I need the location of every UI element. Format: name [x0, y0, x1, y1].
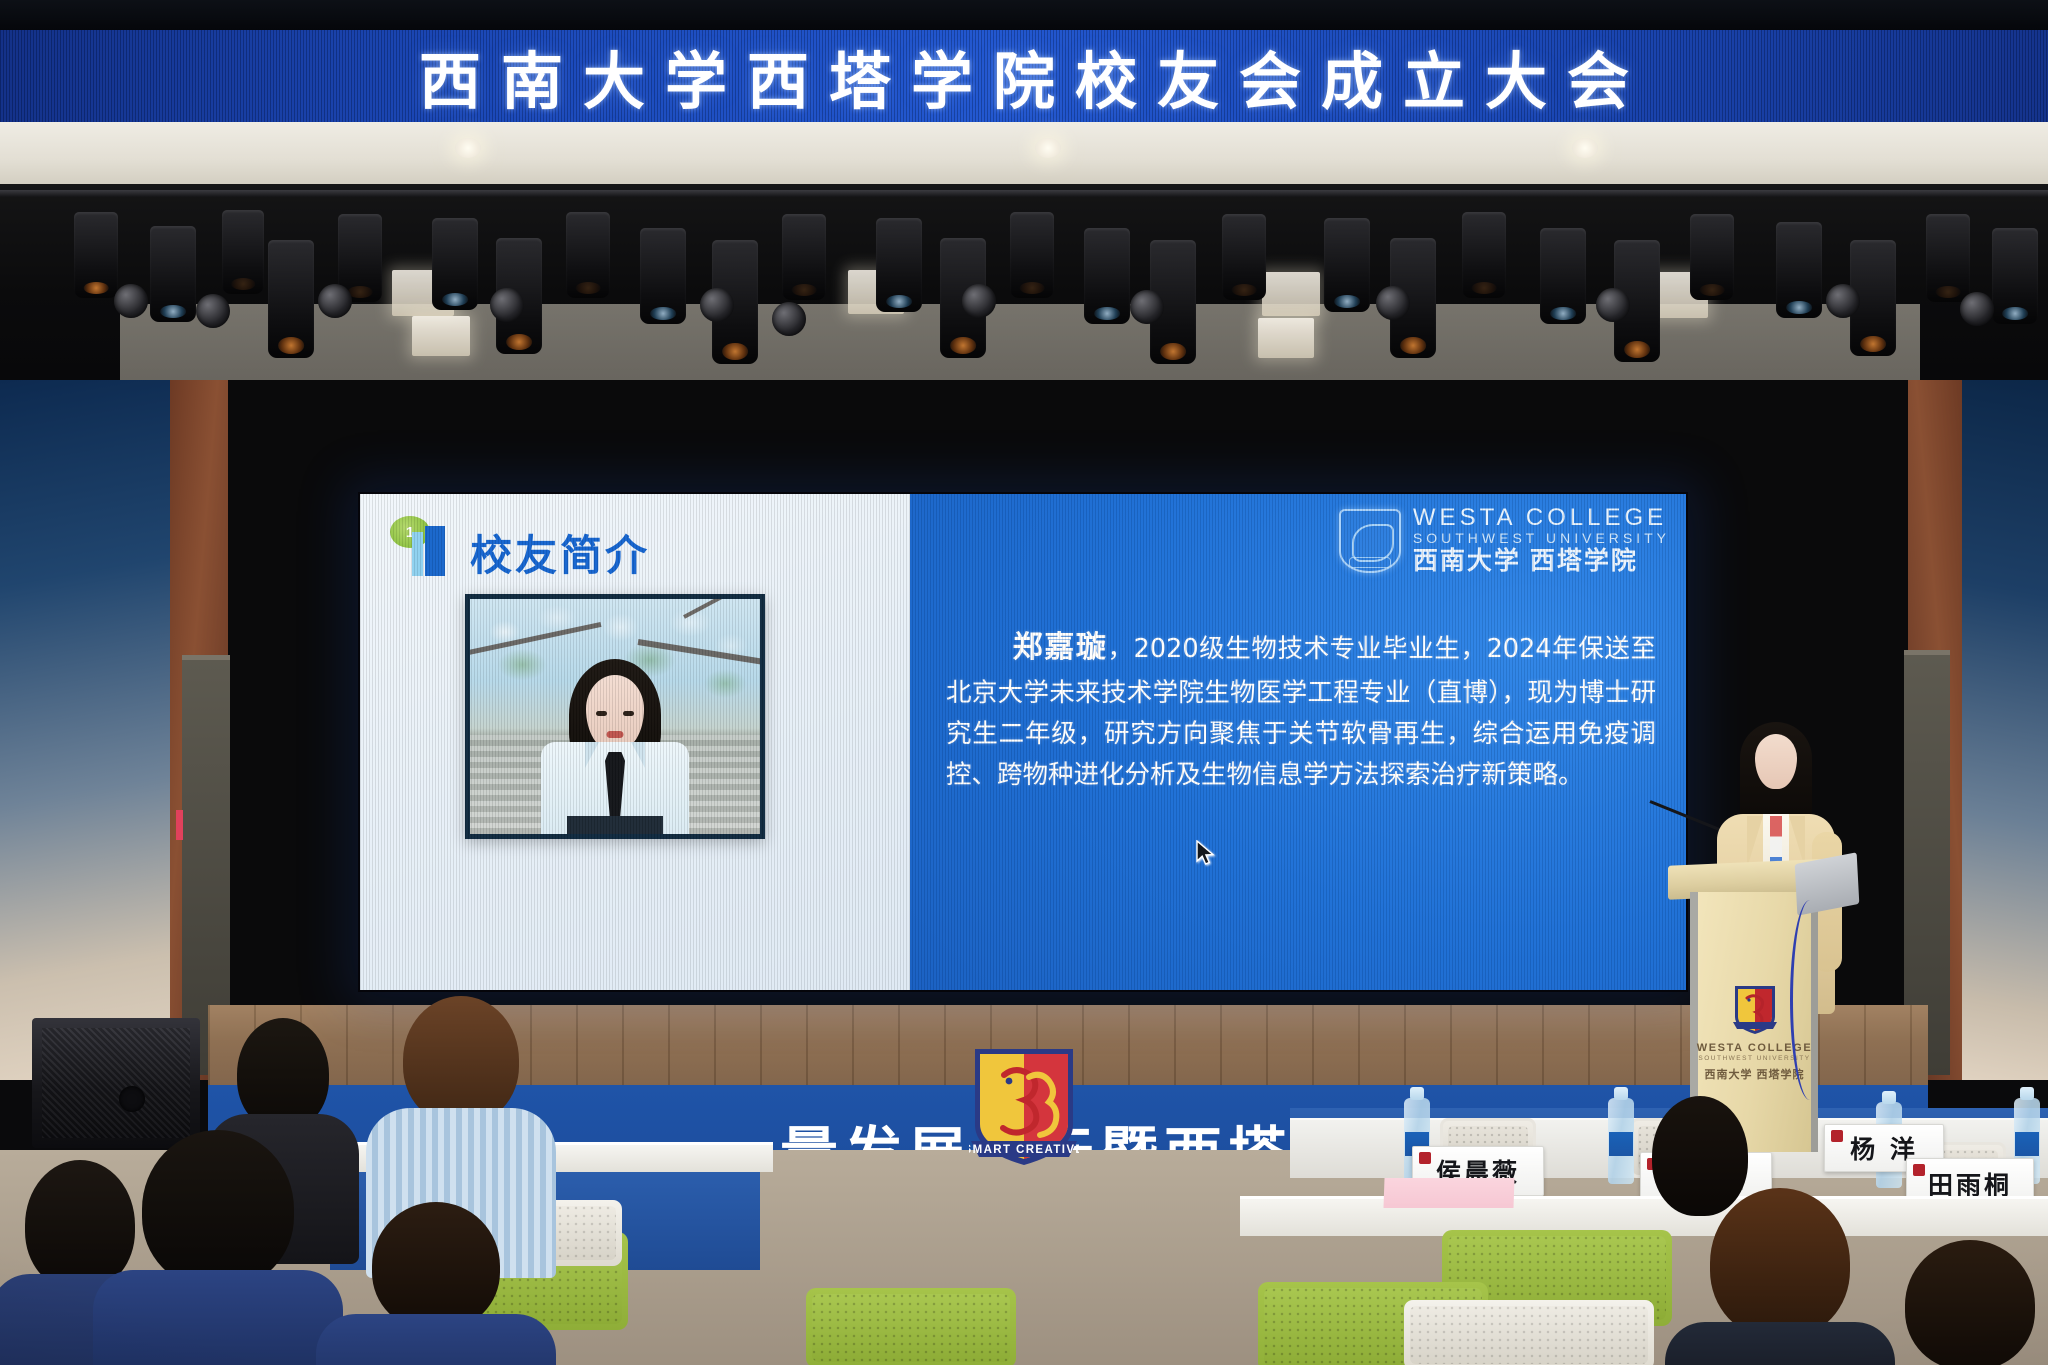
ceiling-downlight — [1035, 138, 1061, 158]
podium-logo-chinese: 西南大学 西塔学院 — [1704, 1066, 1804, 1082]
stage-lamp-head — [1826, 284, 1860, 318]
desk-paper-pink — [1383, 1178, 1514, 1208]
ceiling-beam — [0, 122, 2048, 184]
photo-subject-skirt — [567, 816, 663, 834]
audience-member — [108, 1130, 328, 1365]
truss-glow-panel — [1258, 318, 1314, 358]
audience-body — [1665, 1322, 1895, 1365]
presenter-lapel-left — [1747, 816, 1763, 868]
stage-lamp — [566, 212, 610, 298]
photo-subject-face — [586, 675, 644, 751]
slide-canvas: 1 校友简介 — [360, 494, 1686, 990]
audience-head — [403, 996, 519, 1124]
stage-lamp-head — [1960, 292, 1994, 326]
audience-member — [336, 1202, 536, 1365]
water-bottle — [1608, 1098, 1634, 1184]
stage-lamp-head — [772, 302, 806, 336]
stage-lamp — [1462, 212, 1506, 298]
pa-speaker-left — [32, 1018, 200, 1148]
stage-lamp — [1222, 214, 1266, 300]
stage-lamp — [1084, 228, 1130, 324]
photo-subject-eye-right — [623, 711, 634, 716]
audience-member — [1640, 1096, 1760, 1246]
stage-lamp-head — [196, 294, 230, 328]
stage-lamp — [432, 218, 478, 310]
stage-lamp — [1776, 222, 1822, 318]
alumnus-photo — [470, 599, 760, 834]
accent-bar-dark — [425, 526, 445, 576]
stage-lighting-truss — [0, 184, 2048, 380]
truss-glow-panel — [1262, 272, 1320, 316]
stage-lamp — [1010, 212, 1054, 298]
conference-hall-photo: 西南大学西塔学院校友会成立大会 — [0, 0, 2048, 1365]
stage-lamp — [1324, 218, 1370, 312]
stage-lamp-head — [700, 288, 734, 322]
chair-mesh — [812, 1294, 1010, 1362]
accent-bar-light — [412, 532, 423, 576]
logo-english-primary: WESTA COLLEGE — [1413, 506, 1670, 530]
stage-lamp — [268, 240, 314, 358]
photo-subject-lips — [607, 731, 624, 738]
alumnus-name: 郑嘉璇 — [1012, 630, 1108, 665]
stage-lamp-head — [114, 284, 148, 318]
photo-subject-collar-left — [585, 742, 599, 768]
stage-lamp-head — [1596, 288, 1630, 322]
slide-right-panel: WESTA COLLEGE SOUTHWEST UNIVERSITY 西南大学 … — [910, 494, 1686, 990]
logo-english-secondary: SOUTHWEST UNIVERSITY — [1413, 531, 1670, 546]
logo-text-block: WESTA COLLEGE SOUTHWEST UNIVERSITY 西南大学 … — [1413, 506, 1670, 575]
truss-bar — [0, 190, 2048, 197]
audience-head — [372, 1202, 500, 1330]
photo-subject — [540, 659, 690, 834]
stage-lamp — [150, 226, 196, 322]
led-banner-title: 西南大学西塔学院校友会成立大会 — [399, 31, 1649, 121]
slide-title-accent-bars — [412, 526, 445, 576]
westa-college-logo: WESTA COLLEGE SOUTHWEST UNIVERSITY 西南大学 … — [1339, 506, 1670, 575]
stage-lamp — [640, 228, 686, 324]
alumnus-bio-paragraph: 郑嘉璇，2020级生物技术专业毕业生，2024年保送至北京大学未来技术学院生物医… — [946, 624, 1656, 796]
led-presentation-screen[interactable]: 1 校友简介 — [358, 492, 1688, 992]
audience-head — [142, 1130, 294, 1288]
photo-subject-necktie — [605, 752, 625, 826]
ceiling-downlight — [455, 138, 481, 158]
audience-member — [1880, 1240, 2048, 1365]
truss-glow-panel — [412, 316, 470, 356]
ceiling-downlight — [1572, 138, 1598, 158]
photo-subject-collar-right — [631, 742, 645, 768]
stage-lamp-head — [490, 288, 524, 322]
slide-left-panel: 1 校友简介 — [360, 494, 910, 990]
alumnus-photo-card — [465, 594, 765, 839]
stage-lamp — [74, 212, 118, 298]
chair-mesh — [1410, 1306, 1648, 1364]
crest-motto-text: SMART CREATIVE — [969, 1144, 1079, 1156]
stage-lamp-head — [1376, 286, 1410, 320]
audience-head — [1905, 1240, 2035, 1365]
stage-lamp — [1926, 214, 1970, 302]
stage-lamp — [222, 210, 264, 294]
stage-lamp-head — [318, 284, 352, 318]
lion-crest-icon — [1339, 509, 1401, 573]
stage-lamp-head — [1130, 290, 1164, 324]
photo-subject-eye-left — [596, 711, 607, 716]
presenter-face — [1755, 734, 1797, 789]
stage-lamp — [1992, 228, 2038, 324]
audience-body — [93, 1270, 343, 1365]
stage-lamp — [782, 214, 826, 300]
audience-chair-green[interactable] — [806, 1288, 1016, 1365]
smart-creative-crest-icon: SMART CREATIVE — [969, 1045, 1079, 1171]
exit-indicator-strip — [176, 810, 183, 840]
audience-head — [1652, 1096, 1748, 1216]
audience-body — [316, 1314, 556, 1365]
slide-title: 校友简介 — [470, 522, 650, 583]
audience-chair-white[interactable] — [1404, 1300, 1654, 1365]
podium-cable — [1790, 900, 1830, 1100]
ceiling-shadow-strip — [0, 0, 2048, 30]
stage-lamp — [1690, 214, 1734, 300]
stage-lamp-head — [962, 284, 996, 318]
stage-lamp — [876, 218, 922, 312]
podium-lion-crest-icon — [1732, 984, 1778, 1036]
stage-lamp — [1540, 228, 1586, 324]
logo-chinese: 西南大学 西塔学院 — [1413, 548, 1670, 576]
led-headline-banner: 西南大学西塔学院校友会成立大会 — [0, 30, 2048, 122]
